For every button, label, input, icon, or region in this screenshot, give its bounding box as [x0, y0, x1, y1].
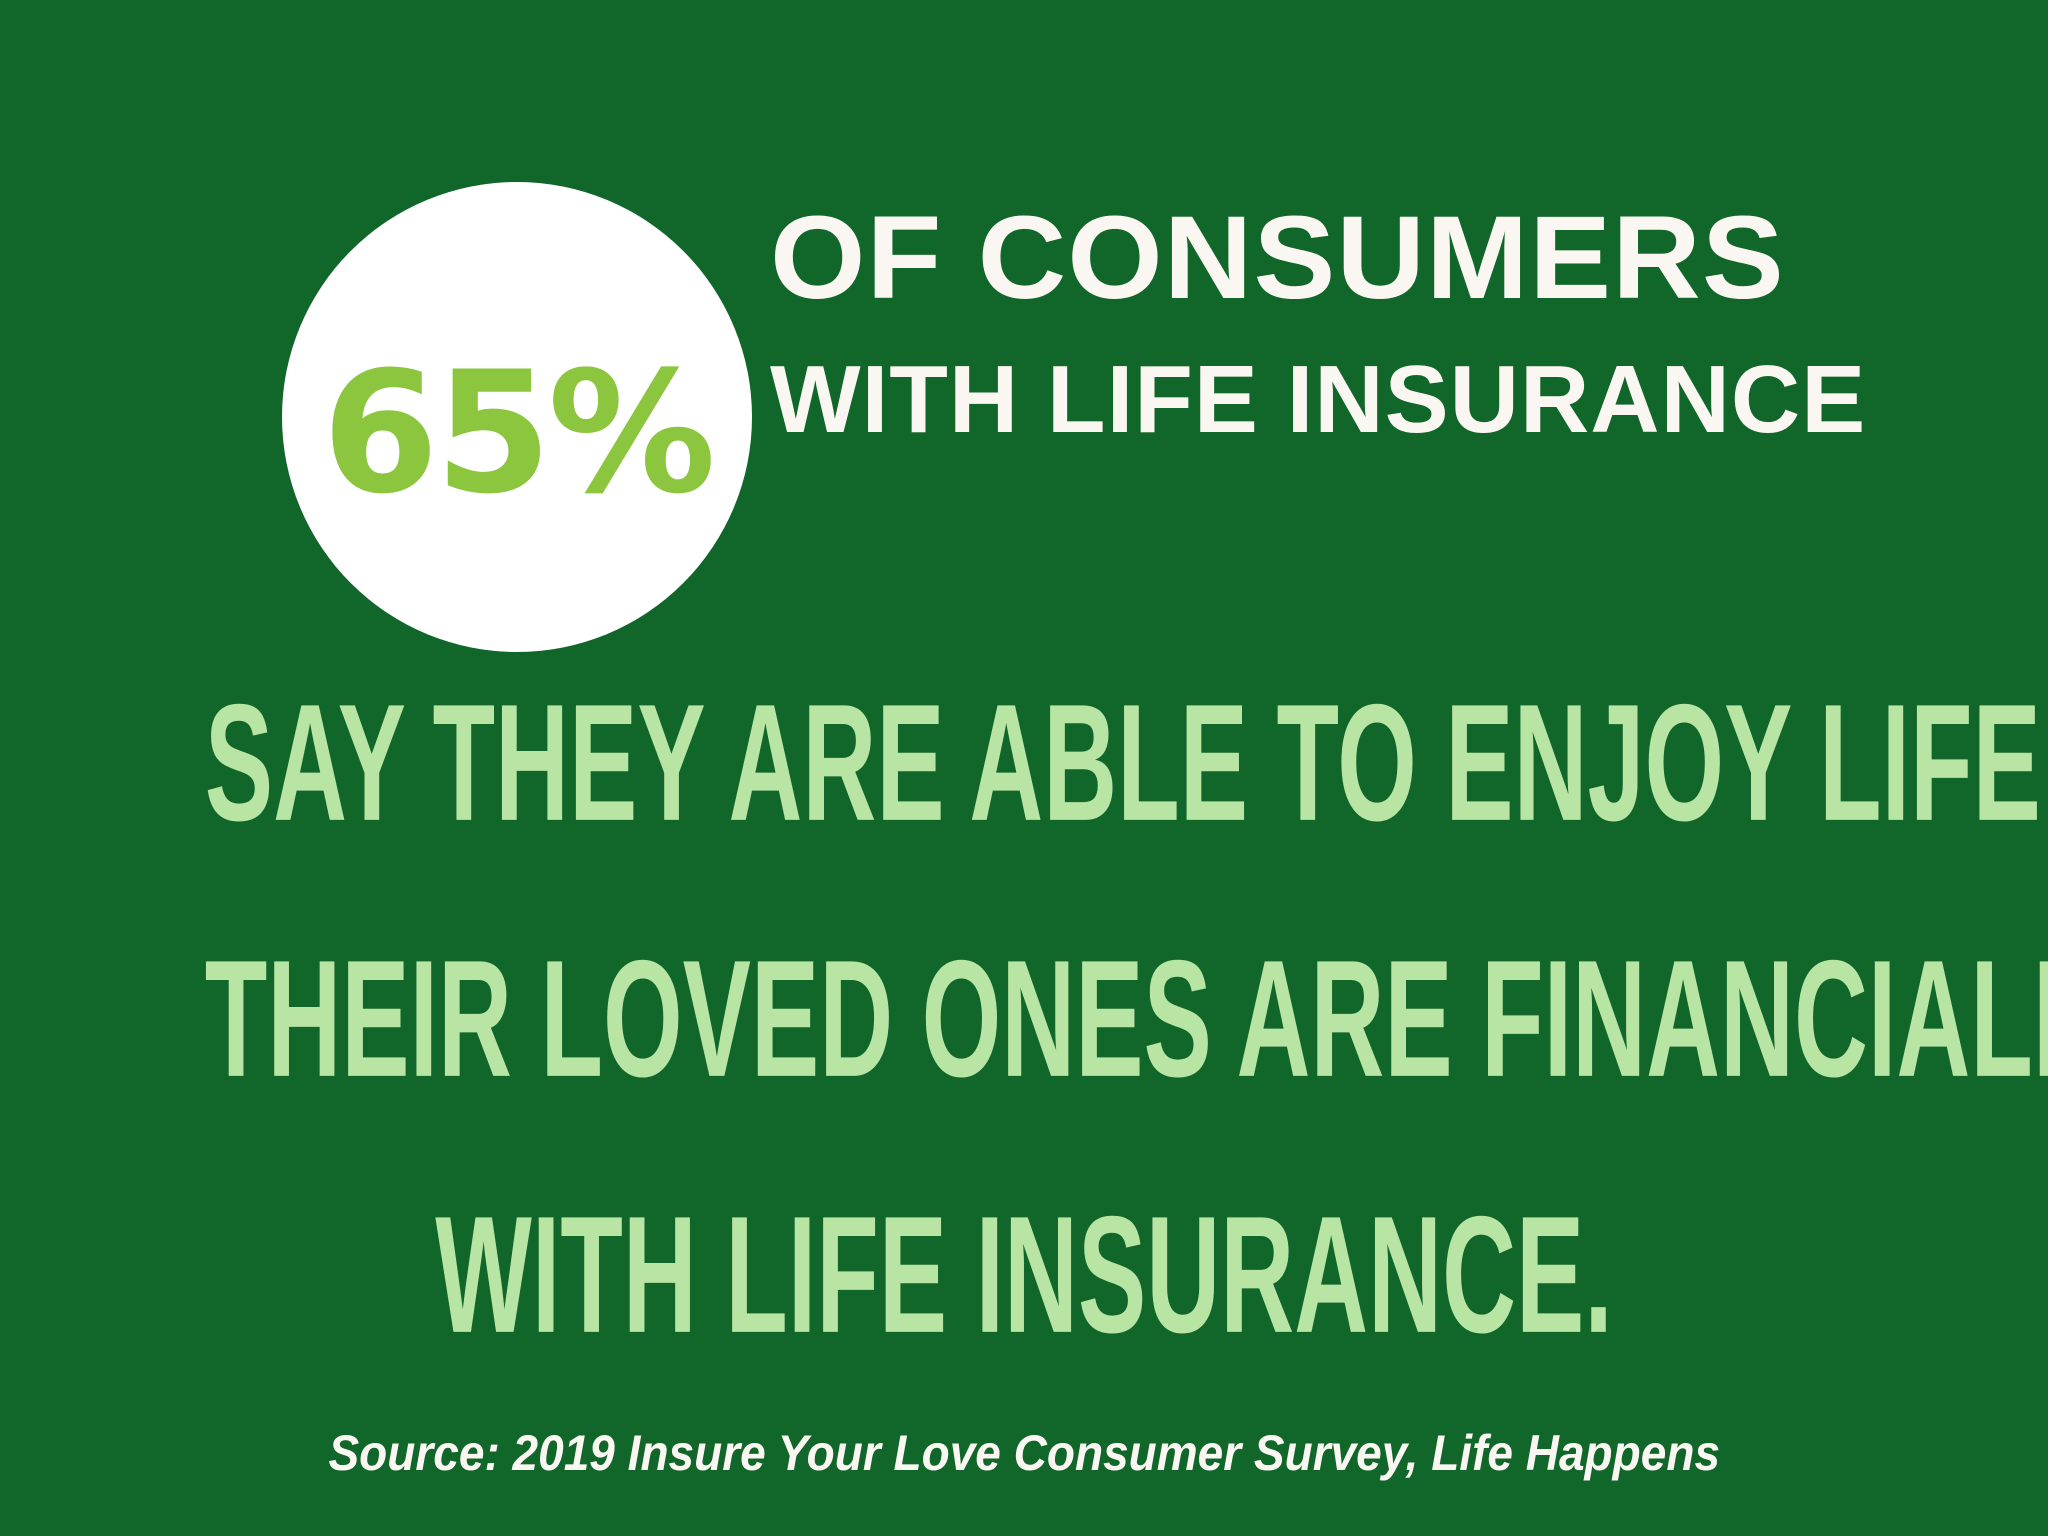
stat-percentage-value: 65%	[322, 349, 712, 517]
statement-line-2: THEIR LOVED ONES ARE FINANCIALLY PROTECT…	[205, 937, 1843, 1103]
headline-line-of-consumers: OF CONSUMERS	[770, 196, 2048, 321]
source-attribution-block: Source: 2019 Insure Your Love Consumer S…	[0, 1428, 2048, 1478]
stat-badge-circle: 65%	[282, 182, 752, 652]
infographic-canvas: 65% OF CONSUMERS WITH LIFE INSURANCE SAY…	[0, 0, 2048, 1536]
headline-block: OF CONSUMERS WITH LIFE INSURANCE	[770, 196, 2000, 453]
statement-block: SAY THEY ARE ABLE TO ENJOY LIFE MORE KNO…	[0, 700, 2048, 1340]
statement-line-3: WITH LIFE INSURANCE.	[205, 1193, 1843, 1359]
stat-header-block: 65% OF CONSUMERS WITH LIFE INSURANCE	[0, 0, 2048, 680]
headline-line-with-life-insurance: WITH LIFE INSURANCE	[770, 347, 2000, 453]
source-attribution-text: Source: 2019 Insure Your Love Consumer S…	[328, 1428, 1720, 1478]
statement-line-1: SAY THEY ARE ABLE TO ENJOY LIFE MORE KNO…	[205, 681, 1843, 847]
